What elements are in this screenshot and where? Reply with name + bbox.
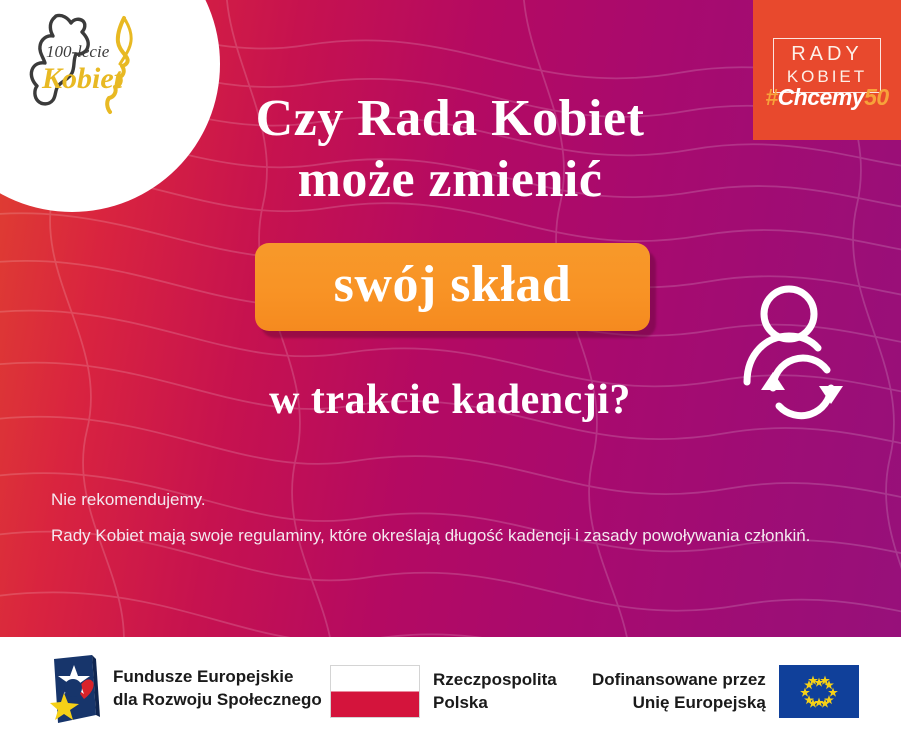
headline-line-1: Czy Rada Kobiet [150, 88, 750, 149]
rzeczpospolita-line-1: Rzeczpospolita [433, 669, 557, 692]
svg-text:Kobiet: Kobiet [41, 62, 124, 95]
body-copy: Nie rekomendujemy. Rady Kobiet mają swoj… [51, 487, 851, 550]
fundusze-europejskie-text: Fundusze Europejskie dla Rozwoju Społecz… [113, 666, 322, 712]
hashtag-number: 50 [864, 84, 889, 110]
highlight-callout: swój skład [255, 243, 650, 331]
footer-unia-europejska: Dofinansowane przez Unię Europejską [592, 665, 859, 718]
rady-label: RADY [774, 43, 880, 66]
poster-canvas: 100-lecie Kobiet RADY KOBIET #Chcemy50 C… [0, 0, 901, 755]
hashtag-word: Chcemy [778, 84, 864, 110]
fundusze-europejskie-flag-star-icon [48, 655, 100, 723]
headline-line-2: może zmienić [150, 149, 750, 210]
svg-text:100-lecie: 100-lecie [46, 42, 110, 61]
unia-line-2: Unię Europejską [592, 692, 766, 715]
rzeczpospolita-line-2: Polska [433, 692, 557, 715]
highlight-text: swój skład [334, 259, 572, 315]
rzeczpospolita-text: Rzeczpospolita Polska [433, 669, 557, 715]
footer-rzeczpospolita-polska: Rzeczpospolita Polska [330, 665, 557, 718]
body-lead: Nie rekomendujemy. [51, 487, 851, 513]
rady-kobiet-badge: RADY KOBIET #Chcemy50 [753, 0, 901, 140]
subheadline: w trakcie kadencji? [150, 376, 750, 424]
fundusze-line-2: dla Rozwoju Społecznego [113, 689, 322, 712]
hero-panel: 100-lecie Kobiet RADY KOBIET #Chcemy50 C… [0, 0, 901, 637]
footer-funduszy-europejskich: Fundusze Europejskie dla Rozwoju Społecz… [48, 655, 322, 723]
body-paragraph: Rady Kobiet mają swoje regulaminy, które… [51, 523, 851, 549]
highlight-box: swój skład [255, 243, 650, 331]
person-refresh-icon [735, 278, 865, 426]
hashtag-chcemy50: #Chcemy50 [763, 84, 891, 111]
logo-100-lecie-kobiet: 100-lecie Kobiet [16, 12, 156, 122]
fundusze-line-1: Fundusze Europejskie [113, 666, 322, 689]
poland-flag-icon [330, 665, 420, 718]
unia-europejska-text: Dofinansowane przez Unię Europejską [592, 669, 766, 715]
european-union-flag-icon [779, 665, 859, 718]
headline: Czy Rada Kobiet może zmienić [150, 88, 750, 211]
hashtag-prefix: # [765, 84, 777, 110]
unia-line-1: Dofinansowane przez [592, 669, 766, 692]
